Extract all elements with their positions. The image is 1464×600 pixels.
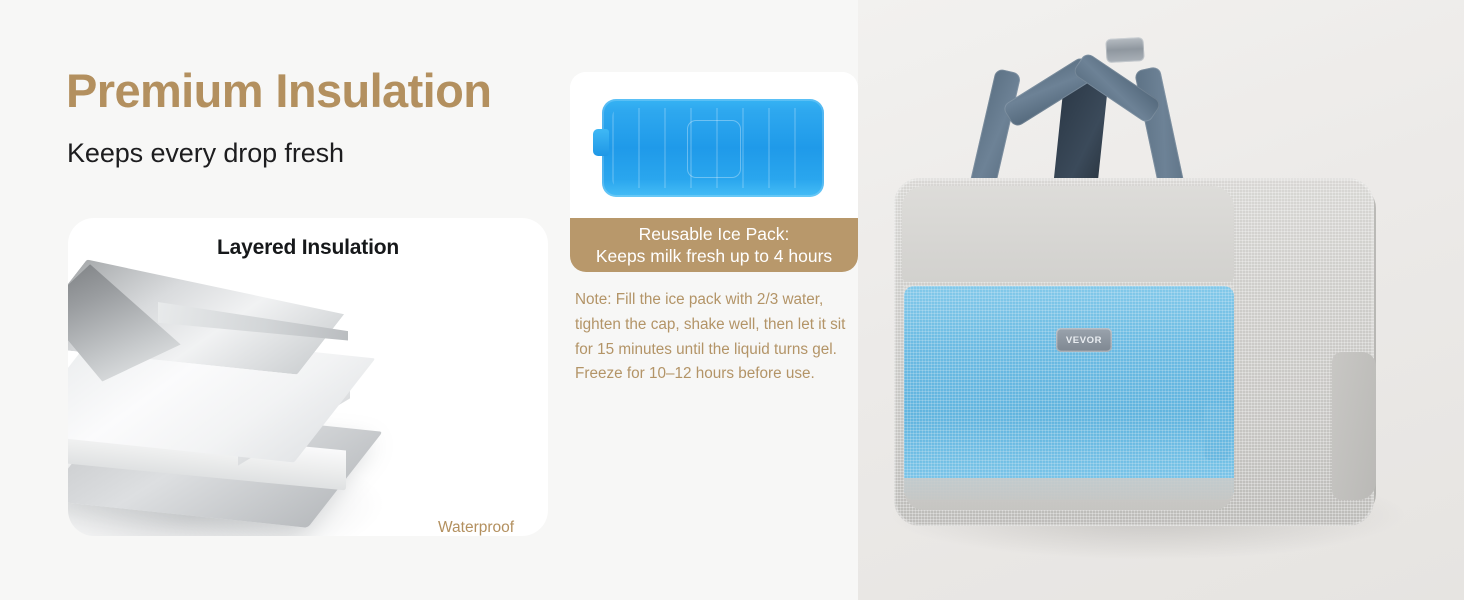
bag-handle-clasp	[1105, 37, 1144, 63]
product-photo: VEVOR	[858, 0, 1464, 600]
page-subtitle: Keeps every drop fresh	[67, 138, 344, 169]
layered-foam-illustration	[68, 240, 392, 536]
brand-badge: VEVOR	[1056, 328, 1112, 352]
ice-pack-inside-nub	[1204, 404, 1230, 460]
bag-window-bottom-trim	[904, 478, 1234, 510]
ice-pack-photo	[570, 72, 858, 218]
ice-pack-caption-line2: Keeps milk fresh up to 4 hours	[596, 245, 832, 267]
ice-pack-caption-line1: Reusable Ice Pack:	[639, 223, 790, 245]
layered-insulation-card: Layered Insulation Waterproof Dustproof …	[68, 218, 548, 536]
ice-pack-caption-bar: Reusable Ice Pack: Keeps milk fresh up t…	[570, 218, 858, 272]
ice-pack-inside-bag	[904, 286, 1234, 500]
bag-side-pocket	[1332, 352, 1376, 500]
ice-pack-illustration	[602, 99, 824, 197]
ice-pack-note: Note: Fill the ice pack with 2/3 water, …	[575, 288, 865, 387]
callout-label: Waterproof Dustproof Outer	[438, 518, 548, 536]
page-title: Premium Insulation	[66, 66, 491, 116]
ice-pack-center-panel	[687, 120, 741, 178]
callout-waterproof-dustproof-outer: Waterproof Dustproof Outer	[304, 518, 548, 536]
ice-pack-card: Reusable Ice Pack: Keeps milk fresh up t…	[570, 72, 858, 272]
ice-pack-cap	[593, 129, 609, 156]
bag-front-window	[904, 262, 1234, 510]
infographic-stage: Premium Insulation Keeps every drop fres…	[0, 0, 1464, 600]
